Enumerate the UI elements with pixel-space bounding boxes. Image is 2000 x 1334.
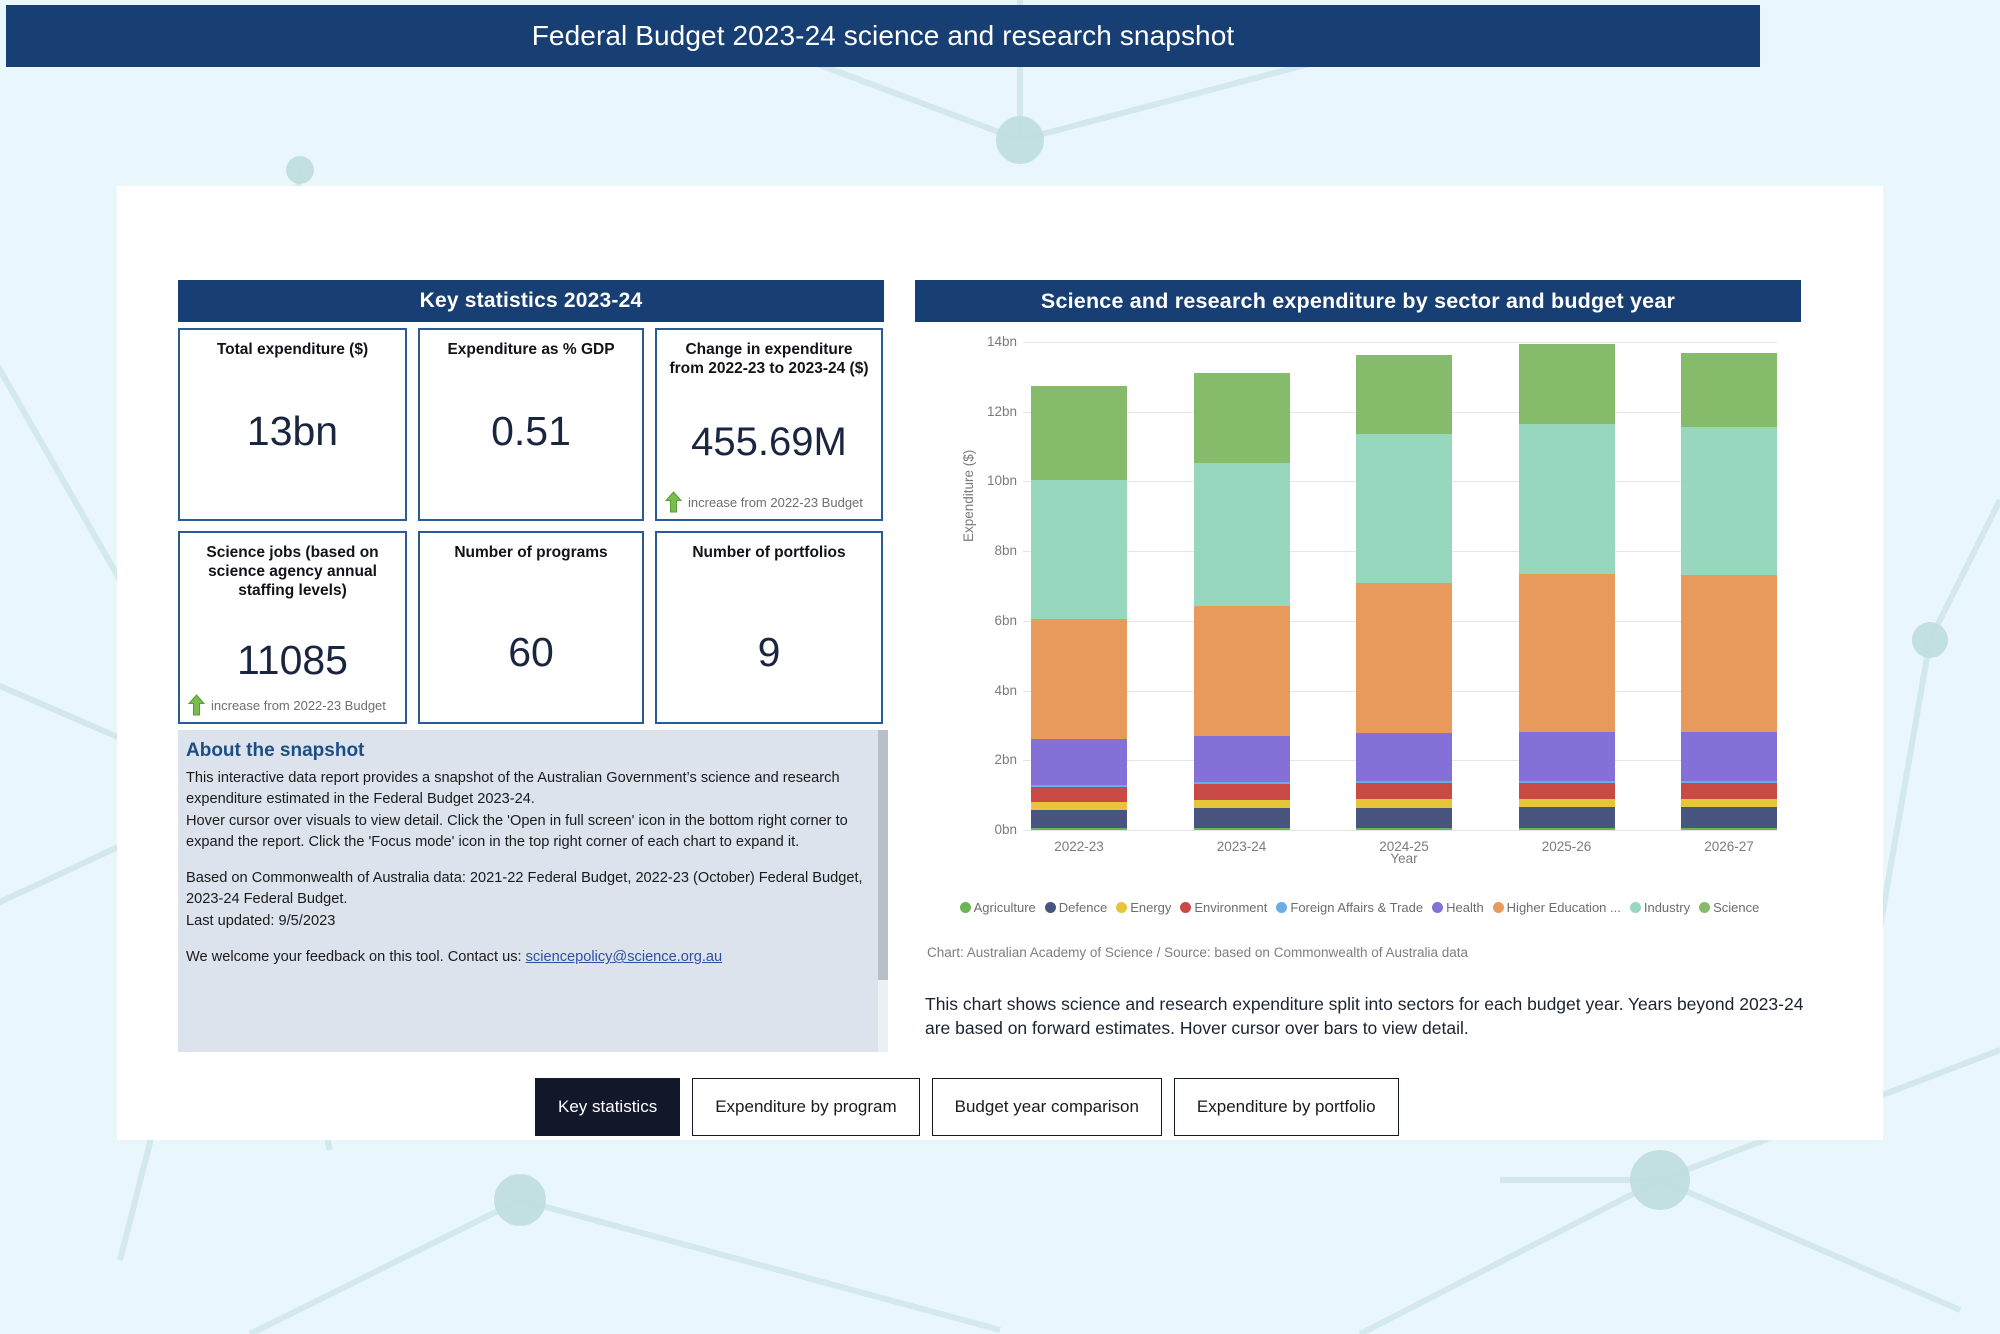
x-axis-title: Year [1031,851,1777,866]
legend-color-swatch [1493,902,1504,913]
y-axis-tick: 8bn [975,543,1017,558]
tab-expenditure-by-portfolio[interactable]: Expenditure by portfolio [1174,1078,1399,1136]
bar-segment[interactable] [1194,808,1290,828]
legend-label: Health [1446,900,1484,915]
legend-label: Higher Education ... [1507,900,1621,915]
bar-segment[interactable] [1031,480,1127,619]
legend-color-swatch [1276,902,1287,913]
about-feedback: We welcome your feedback on this tool. C… [186,947,874,968]
bar-column[interactable]: 2024-25 [1356,342,1452,830]
about-paragraph-4: Last updated: 9/5/2023 [186,911,874,932]
y-axis-tick: 4bn [975,683,1017,698]
bar-segment[interactable] [1031,802,1127,810]
bar-segment[interactable] [1031,619,1127,739]
bar-segment[interactable] [1356,434,1452,583]
kpi-label: Change in expenditure from 2022-23 to 20… [667,340,872,378]
bar-column[interactable]: 2026-27 [1681,342,1777,830]
kpi-label: Science jobs (based on science agency an… [190,543,395,601]
legend-item[interactable]: Science [1699,900,1759,915]
bar-segment[interactable] [1356,799,1452,807]
bar-segment[interactable] [1681,807,1777,828]
kpi-grid: Total expenditure ($) 13bn Expenditure a… [178,328,888,724]
y-axis-tick: 14bn [975,334,1017,349]
arrow-up-icon [665,491,682,513]
bar-segment[interactable] [1356,733,1452,781]
tab-bar: Key statisticsExpenditure by programBudg… [535,1078,1399,1136]
arrow-up-icon [188,694,205,716]
y-axis-tick: 0bn [975,822,1017,837]
key-statistics-panel: Key statistics 2023-24 Total expenditure… [178,280,890,1080]
kpi-row: Science jobs (based on science agency an… [178,531,888,724]
bar-segment[interactable] [1519,344,1615,424]
bar-column[interactable]: 2023-24 [1194,342,1290,830]
app-title-bar: Federal Budget 2023-24 science and resea… [6,5,1760,67]
bar-segment[interactable] [1194,784,1290,800]
chart-plot-area: Expenditure ($) 0bn2bn4bn6bn8bn10bn12bn1… [975,342,1785,862]
legend-label: Defence [1059,900,1107,915]
legend-item[interactable]: Foreign Affairs & Trade [1276,900,1423,915]
chart-panel: Science and research expenditure by sect… [915,280,1805,1080]
bar-segment[interactable] [1031,787,1127,802]
legend-item[interactable]: Environment [1180,900,1267,915]
legend-item[interactable]: Defence [1045,900,1107,915]
bar-segment[interactable] [1194,606,1290,736]
bar-segment[interactable] [1681,783,1777,799]
kpi-label: Expenditure as % GDP [447,340,614,359]
bar-segment[interactable] [1681,353,1777,428]
chart-heading: Science and research expenditure by sect… [915,280,1801,322]
bar-segment[interactable] [1031,739,1127,784]
chart-legend[interactable]: AgricultureDefenceEnergyEnvironmentForei… [927,900,1801,915]
legend-color-swatch [1180,902,1191,913]
bar-segment[interactable] [1519,807,1615,828]
bar-segment[interactable] [1519,732,1615,781]
legend-color-swatch [1630,902,1641,913]
legend-item[interactable]: Higher Education ... [1493,900,1621,915]
about-paragraph-3: Based on Commonwealth of Australia data:… [186,868,874,911]
about-paragraph-1: This interactive data report provides a … [186,768,874,811]
tab-budget-year-comparison[interactable]: Budget year comparison [932,1078,1162,1136]
kpi-card-number-of-portfolios[interactable]: Number of portfolios 9 [655,531,883,724]
legend-label: Agriculture [974,900,1036,915]
kpi-value: 11085 [180,637,405,684]
about-scrollbar-thumb[interactable] [878,730,888,980]
legend-item[interactable]: Industry [1630,900,1690,915]
kpi-card-change-in-expenditure[interactable]: Change in expenditure from 2022-23 to 20… [655,328,883,521]
kpi-card-science-jobs[interactable]: Science jobs (based on science agency an… [178,531,407,724]
kpi-footnote-text: increase from 2022-23 Budget [688,495,863,510]
bar-segment[interactable] [1519,574,1615,732]
legend-label: Industry [1644,900,1690,915]
chart-source-note: Chart: Australian Academy of Science / S… [927,945,1468,960]
kpi-label: Number of programs [454,543,607,562]
key-statistics-heading: Key statistics 2023-24 [178,280,884,322]
kpi-card-expenditure-pct-gdp[interactable]: Expenditure as % GDP 0.51 [418,328,644,521]
legend-color-swatch [1432,902,1443,913]
legend-label: Foreign Affairs & Trade [1290,900,1423,915]
kpi-value: 13bn [180,408,405,455]
legend-color-swatch [960,902,971,913]
kpi-value: 9 [657,629,881,676]
bar-segment[interactable] [1519,799,1615,807]
legend-label: Energy [1130,900,1171,915]
y-axis-tick: 6bn [975,613,1017,628]
bar-segment[interactable] [1031,810,1127,828]
tab-key-statistics[interactable]: Key statistics [535,1078,680,1136]
bar-segment[interactable] [1681,575,1777,733]
bar-segment[interactable] [1681,732,1777,781]
kpi-value: 455.69M [657,420,881,465]
about-body: This interactive data report provides a … [178,768,888,968]
bar-segment[interactable] [1681,427,1777,574]
tab-expenditure-by-program[interactable]: Expenditure by program [692,1078,919,1136]
bar-column[interactable]: 2025-26 [1519,342,1615,830]
chart-description: This chart shows science and research ex… [925,992,1805,1040]
bar-segment[interactable] [1681,799,1777,806]
legend-color-swatch [1699,902,1710,913]
legend-color-swatch [1116,902,1127,913]
about-the-snapshot-box: About the snapshot This interactive data… [178,730,888,1052]
bar-segment[interactable] [1519,783,1615,799]
about-scrollbar[interactable] [878,730,888,1052]
about-paragraph-2: Hover cursor over visuals to view detail… [186,811,874,854]
y-axis-tick: 10bn [975,473,1017,488]
kpi-footnote: increase from 2022-23 Budget [665,491,863,513]
bar-segment[interactable] [1031,386,1127,480]
y-axis-tick: 12bn [975,404,1017,419]
kpi-row: Total expenditure ($) 13bn Expenditure a… [178,328,888,521]
y-axis-tick: 2bn [975,752,1017,767]
legend-label: Environment [1194,900,1267,915]
bar-column[interactable]: 2022-23 [1031,342,1127,830]
kpi-card-total-expenditure[interactable]: Total expenditure ($) 13bn [178,328,407,521]
kpi-value: 60 [420,629,642,676]
bar-segment[interactable] [1519,424,1615,575]
kpi-label: Number of portfolios [692,543,845,562]
legend-label: Science [1713,900,1759,915]
bar-segment[interactable] [1356,583,1452,733]
bar-segment[interactable] [1194,800,1290,808]
about-feedback-text: We welcome your feedback on this tool. C… [186,949,526,965]
bar-segment[interactable] [1194,463,1290,606]
kpi-footnote: increase from 2022-23 Budget [188,694,386,716]
page-title: Federal Budget 2023-24 science and resea… [532,20,1235,52]
legend-item[interactable]: Energy [1116,900,1171,915]
y-axis-title: Expenditure ($) [961,450,976,542]
bar-segment[interactable] [1356,808,1452,828]
contact-email-link[interactable]: sciencepolicy@science.org.au [526,949,723,965]
legend-item[interactable]: Agriculture [960,900,1036,915]
bar-segment[interactable] [1356,783,1452,799]
bar-segment[interactable] [1194,736,1290,783]
bar-segment[interactable] [1356,355,1452,434]
kpi-label: Total expenditure ($) [217,340,368,359]
about-title: About the snapshot [178,730,888,768]
kpi-card-number-of-programs[interactable]: Number of programs 60 [418,531,644,724]
kpi-value: 0.51 [420,408,642,455]
bar-segment[interactable] [1194,373,1290,463]
legend-item[interactable]: Health [1432,900,1484,915]
stacked-bar-chart[interactable]: Expenditure ($) 0bn2bn4bn6bn8bn10bn12bn1… [915,332,1801,882]
chart-bars: 2022-232023-242024-252025-262026-27 [1031,342,1777,830]
legend-color-swatch [1045,902,1056,913]
kpi-footnote-text: increase from 2022-23 Budget [211,698,386,713]
